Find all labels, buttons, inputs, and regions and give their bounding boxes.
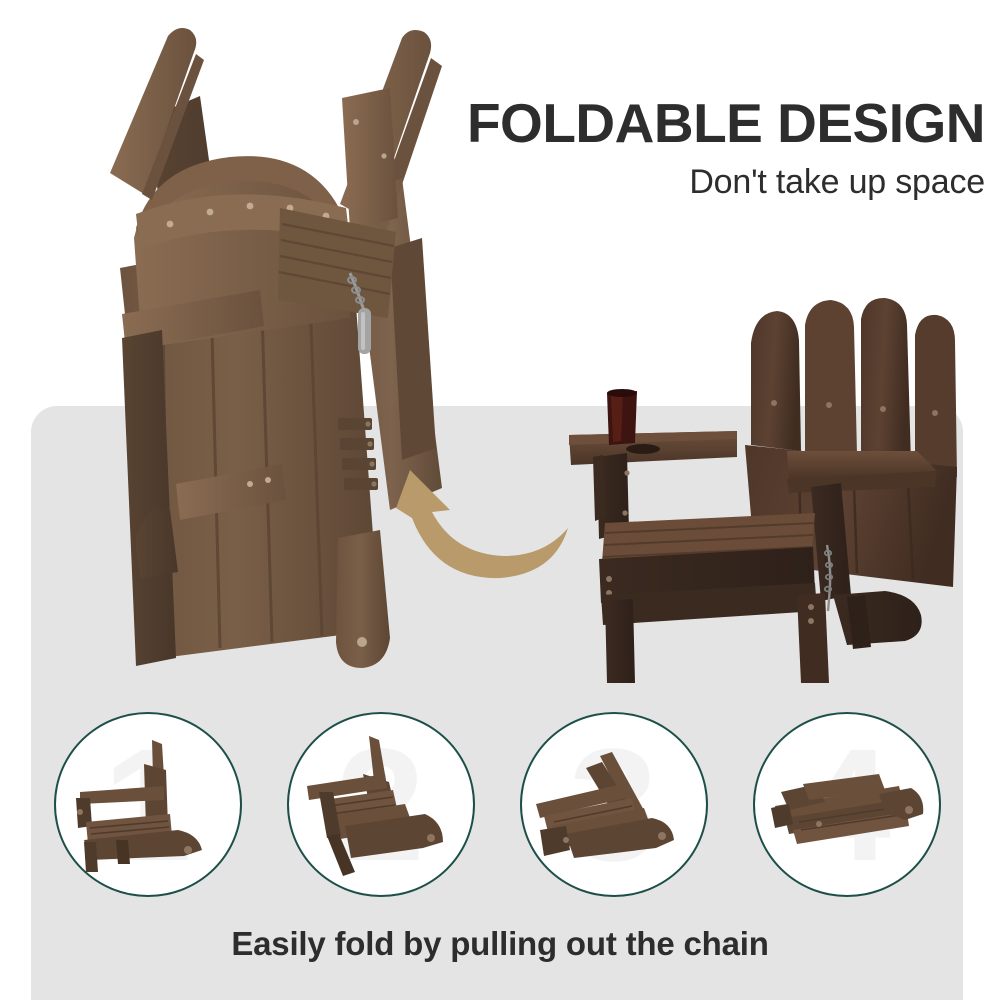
curved-fold-arrow	[392, 452, 577, 582]
step-circle-4: 4	[753, 712, 941, 897]
step-circle-2: 2	[287, 712, 475, 897]
page-subtitle: Don't take up space	[455, 165, 985, 201]
cup-in-holder	[607, 389, 637, 445]
step-thumbnail-4	[759, 730, 935, 880]
open-chair-image	[565, 295, 965, 685]
step-circle-3: 3	[520, 712, 708, 897]
bottom-caption: Easily fold by pulling out the chain	[0, 925, 1000, 963]
step-thumbnail-1	[60, 730, 236, 880]
page-title: FOLDABLE DESIGN	[455, 96, 985, 151]
step-circle-1: 1	[54, 712, 242, 897]
product-graphic-canvas: FOLDABLE DESIGN Don't take up space 1	[0, 0, 1000, 1000]
headline-block: FOLDABLE DESIGN Don't take up space	[455, 96, 985, 201]
step-thumbnail-3	[526, 730, 702, 880]
fold-steps-row: 1	[31, 712, 963, 897]
step-thumbnail-2	[293, 730, 469, 880]
